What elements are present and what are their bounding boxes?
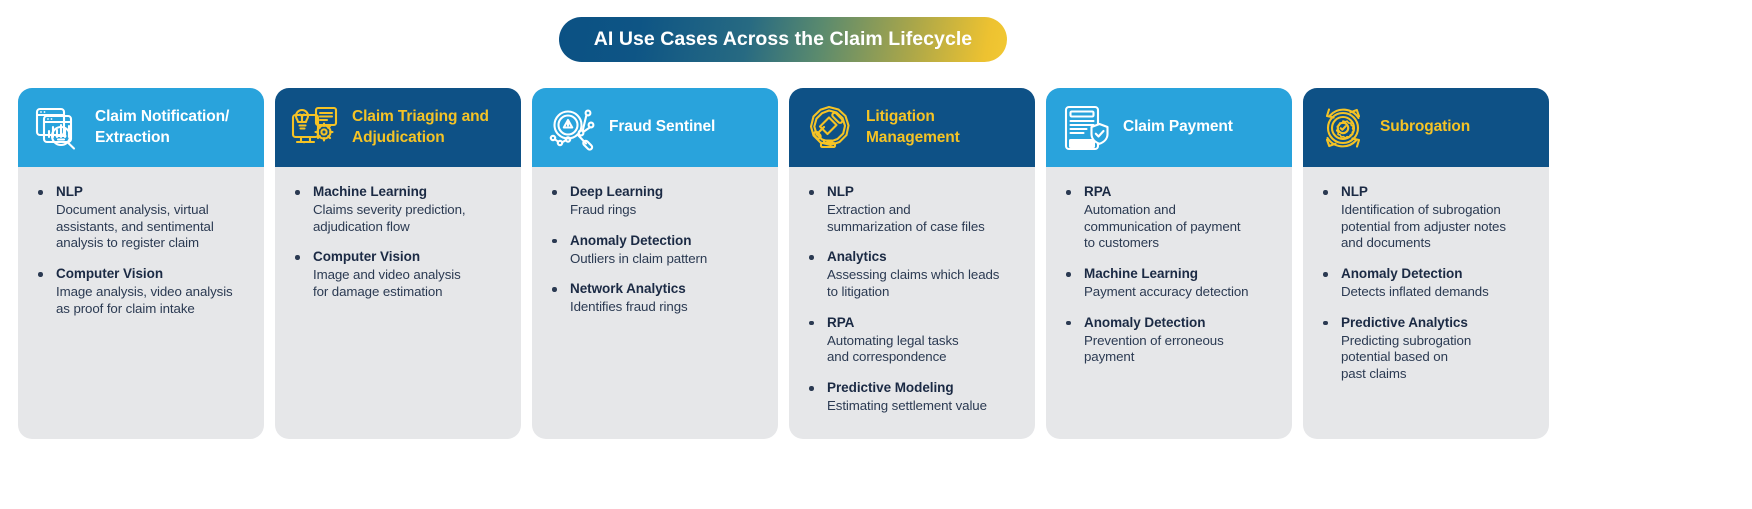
list-item-text: Network Analytics Identifies fraud rings	[570, 281, 766, 316]
list-item: Analytics Assessing claims which leads t…	[805, 249, 1023, 300]
card-header: Claim Notification/ Extraction	[18, 88, 264, 167]
list-item-text: Deep Learning Fraud rings	[570, 184, 766, 219]
card-body: Machine Learning Claims severity predict…	[275, 167, 521, 439]
list-item-description: Assessing claims which leads to litigati…	[827, 267, 1023, 301]
list-item: Machine Learning Payment accuracy detect…	[1062, 266, 1280, 301]
list-item-description: Image analysis, video analysis as proof …	[56, 284, 252, 318]
list-item-text: Predictive Modeling Estimating settlemen…	[827, 380, 1023, 415]
lifecycle-card: Claim Notification/ Extraction NLP Docum…	[18, 88, 264, 439]
bullet-point-icon	[1062, 266, 1084, 277]
list-item-title: Computer Vision	[56, 266, 252, 283]
bullet-point-icon	[1062, 184, 1084, 195]
card-header: Fraud Sentinel	[532, 88, 778, 167]
fraud-magnifier-network-icon	[546, 102, 598, 154]
svg-text:CLAIM: CLAIM	[1069, 139, 1095, 148]
lifecycle-cards-row: Claim Notification/ Extraction NLP Docum…	[18, 88, 1734, 439]
list-item: Computer Vision Image analysis, video an…	[34, 266, 252, 317]
list-item: Predictive Modeling Estimating settlemen…	[805, 380, 1023, 415]
page-title-banner: AI Use Cases Across the Claim Lifecycle	[559, 17, 1007, 62]
list-item-text: Machine Learning Payment accuracy detect…	[1084, 266, 1280, 301]
card-body: Deep Learning Fraud rings Anomaly Detect…	[532, 167, 778, 439]
list-item: Machine Learning Claims severity predict…	[291, 184, 509, 235]
list-item-title: Computer Vision	[313, 249, 509, 266]
list-item-title: RPA	[1084, 184, 1280, 201]
list-item: RPA Automating legal tasks and correspon…	[805, 315, 1023, 366]
list-item-title: Network Analytics	[570, 281, 766, 298]
list-item-text: Anomaly Detection Prevention of erroneou…	[1084, 315, 1280, 366]
list-item: Network Analytics Identifies fraud rings	[548, 281, 766, 316]
bullet-point-icon	[1319, 184, 1341, 195]
recycle-arrows-gear-icon	[1317, 102, 1369, 154]
bullet-point-icon	[805, 184, 827, 195]
card-header: Litigation Management	[789, 88, 1035, 167]
list-item: Anomaly Detection Detects inflated deman…	[1319, 266, 1537, 301]
lifecycle-card: Claim Triaging and Adjudication Machine …	[275, 88, 521, 439]
list-item: NLP Extraction and summarization of case…	[805, 184, 1023, 235]
list-item-description: Fraud rings	[570, 202, 766, 219]
bullet-point-icon	[291, 184, 313, 195]
bullet-point-icon	[805, 249, 827, 260]
list-item-text: Analytics Assessing claims which leads t…	[827, 249, 1023, 300]
list-item-title: Deep Learning	[570, 184, 766, 201]
gavel-gear-icon	[803, 102, 855, 154]
list-item-text: RPA Automation and communication of paym…	[1084, 184, 1280, 252]
page-title: AI Use Cases Across the Claim Lifecycle	[594, 28, 972, 51]
list-item: RPA Automation and communication of paym…	[1062, 184, 1280, 252]
card-title: Subrogation	[1380, 117, 1470, 137]
list-item: NLP Identification of subrogation potent…	[1319, 184, 1537, 252]
list-item-description: Payment accuracy detection	[1084, 284, 1280, 301]
list-item-title: Machine Learning	[1084, 266, 1280, 283]
list-item-title: Analytics	[827, 249, 1023, 266]
list-item-title: NLP	[827, 184, 1023, 201]
list-item-description: Extraction and summarization of case fil…	[827, 202, 1023, 236]
lightbulb-monitor-gear-icon	[289, 102, 341, 154]
bullet-point-icon	[548, 281, 570, 292]
list-item-description: Predicting subrogation potential based o…	[1341, 333, 1537, 383]
bullet-point-icon	[34, 184, 56, 195]
list-item-title: RPA	[827, 315, 1023, 332]
list-item-text: NLP Extraction and summarization of case…	[827, 184, 1023, 235]
lifecycle-card: Litigation Management NLP Extraction and…	[789, 88, 1035, 439]
list-item-text: Anomaly Detection Detects inflated deman…	[1341, 266, 1537, 301]
infographic-root: AI Use Cases Across the Claim Lifecycle …	[0, 0, 1752, 509]
list-item: NLP Document analysis, virtual assistant…	[34, 184, 252, 252]
bullet-point-icon	[805, 380, 827, 391]
list-item-title: Machine Learning	[313, 184, 509, 201]
list-item: Predictive Analytics Predicting subrogat…	[1319, 315, 1537, 383]
list-item-title: Predictive Analytics	[1341, 315, 1537, 332]
lifecycle-card: CLAIM Claim Payment RPA Automation and c…	[1046, 88, 1292, 439]
list-item-text: Computer Vision Image and video analysis…	[313, 249, 509, 300]
list-item-text: NLP Identification of subrogation potent…	[1341, 184, 1537, 252]
card-body: RPA Automation and communication of paym…	[1046, 167, 1292, 439]
card-body: NLP Identification of subrogation potent…	[1303, 167, 1549, 439]
bullet-point-icon	[1319, 266, 1341, 277]
list-item-text: NLP Document analysis, virtual assistant…	[56, 184, 252, 252]
list-item: Anomaly Detection Outliers in claim patt…	[548, 233, 766, 268]
bullet-point-icon	[805, 315, 827, 326]
list-item-text: Computer Vision Image analysis, video an…	[56, 266, 252, 317]
claim-document-shield-icon: CLAIM	[1060, 102, 1112, 154]
list-item-text: Anomaly Detection Outliers in claim patt…	[570, 233, 766, 268]
list-item-description: Automation and communication of payment …	[1084, 202, 1280, 252]
bullet-point-icon	[34, 266, 56, 277]
card-body: NLP Document analysis, virtual assistant…	[18, 167, 264, 439]
card-header: Subrogation	[1303, 88, 1549, 167]
list-item-description: Identifies fraud rings	[570, 299, 766, 316]
card-header: CLAIM Claim Payment	[1046, 88, 1292, 167]
lifecycle-card: Subrogation NLP Identification of subrog…	[1303, 88, 1549, 439]
card-title: Claim Payment	[1123, 117, 1233, 137]
list-item-description: Claims severity prediction, adjudication…	[313, 202, 509, 236]
list-item-description: Identification of subrogation potential …	[1341, 202, 1537, 252]
bullet-point-icon	[291, 249, 313, 260]
card-title: Litigation Management	[866, 107, 1024, 148]
list-item-title: Anomaly Detection	[1084, 315, 1280, 332]
bullet-point-icon	[1062, 315, 1084, 326]
card-body: NLP Extraction and summarization of case…	[789, 167, 1035, 439]
list-item-description: Outliers in claim pattern	[570, 251, 766, 268]
list-item-description: Image and video analysis for damage esti…	[313, 267, 509, 301]
list-item-description: Document analysis, virtual assistants, a…	[56, 202, 252, 252]
list-item-text: Predictive Analytics Predicting subrogat…	[1341, 315, 1537, 383]
list-item-title: NLP	[1341, 184, 1537, 201]
list-item-description: Estimating settlement value	[827, 398, 1023, 415]
documents-magnifier-icon	[32, 102, 84, 154]
list-item-title: NLP	[56, 184, 252, 201]
list-item-title: Predictive Modeling	[827, 380, 1023, 397]
list-item: Computer Vision Image and video analysis…	[291, 249, 509, 300]
lifecycle-card: Fraud Sentinel Deep Learning Fraud rings…	[532, 88, 778, 439]
bullet-point-icon	[1319, 315, 1341, 326]
list-item-title: Anomaly Detection	[570, 233, 766, 250]
card-title: Fraud Sentinel	[609, 117, 715, 137]
list-item-text: RPA Automating legal tasks and correspon…	[827, 315, 1023, 366]
card-header: Claim Triaging and Adjudication	[275, 88, 521, 167]
list-item: Anomaly Detection Prevention of erroneou…	[1062, 315, 1280, 366]
list-item-title: Anomaly Detection	[1341, 266, 1537, 283]
list-item-description: Prevention of erroneous payment	[1084, 333, 1280, 367]
card-title: Claim Triaging and Adjudication	[352, 107, 510, 148]
list-item-description: Detects inflated demands	[1341, 284, 1537, 301]
bullet-point-icon	[548, 184, 570, 195]
card-title: Claim Notification/ Extraction	[95, 107, 253, 148]
list-item: Deep Learning Fraud rings	[548, 184, 766, 219]
list-item-description: Automating legal tasks and correspondenc…	[827, 333, 1023, 367]
bullet-point-icon	[548, 233, 570, 244]
list-item-text: Machine Learning Claims severity predict…	[313, 184, 509, 235]
